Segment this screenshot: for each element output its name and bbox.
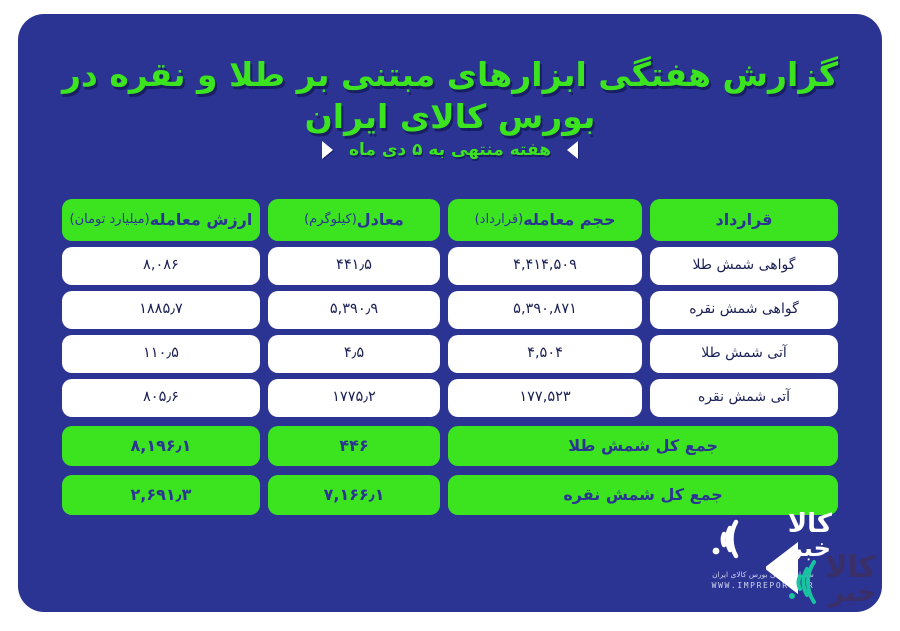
table-row: آتی شمش نقره ۱۷۷,۵۲۳ ۱۷۷۵٫۲ ۸۰۵٫۶	[62, 379, 838, 417]
cell-equivalent: ۵,۳۹۰٫۹	[268, 291, 440, 329]
header-value: ارزش معامله (میلیارد تومان)	[62, 199, 260, 241]
subtitle-block: هفته منتهی به ۵ دی ماه	[18, 140, 882, 160]
header-contract: قرارداد	[650, 199, 838, 241]
summary-equivalent-gold: ۴۴۶	[268, 426, 440, 466]
chevron-left-icon	[322, 141, 333, 159]
logo-url: WWW.IMPREPORT.IR	[688, 581, 838, 590]
brand-logo: کالا خبر سامانه رسمی بورس کالای ایران WW…	[688, 512, 838, 590]
header-equivalent-label: معادل	[357, 211, 404, 229]
signal-waves-icon	[696, 518, 740, 560]
logo-tagline: سامانه رسمی بورس کالای ایران	[688, 570, 838, 579]
summary-label-silver: جمع کل شمش نقره	[448, 475, 838, 515]
logo-mark: کالا خبر	[688, 512, 838, 564]
summary-label-gold: جمع کل شمش طلا	[448, 426, 838, 466]
cell-value: ۱۸۸۵٫۷	[62, 291, 260, 329]
table-header-row: قرارداد حجم معامله (قرارداد) معادل (کیلو…	[62, 199, 838, 241]
cell-volume: ۴,۵۰۴	[448, 335, 642, 373]
table-row: گواهی شمش طلا ۴,۴۱۴,۵۰۹ ۴۴۱٫۵ ۸,۰۸۶	[62, 247, 838, 285]
cell-equivalent: ۴۴۱٫۵	[268, 247, 440, 285]
infographic-root: گزارش هفتگی ابزارهای مبتنی بر طلا و نقره…	[0, 0, 900, 631]
cell-volume: ۴,۴۱۴,۵۰۹	[448, 247, 642, 285]
header-volume-unit: (قرارداد)	[475, 213, 524, 227]
header-value-label: ارزش معامله	[150, 211, 253, 229]
table-summary-row-silver: جمع کل شمش نقره ۷,۱۶۶٫۱ ۲,۶۹۱٫۳	[62, 475, 838, 515]
summary-value-gold: ۸,۱۹۶٫۱	[62, 426, 260, 466]
cell-value: ۱۱۰٫۵	[62, 335, 260, 373]
page-title: گزارش هفتگی ابزارهای مبتنی بر طلا و نقره…	[44, 54, 856, 138]
cell-contract: آتی شمش طلا	[650, 335, 838, 373]
cell-value: ۸۰۵٫۶	[62, 379, 260, 417]
summary-value-silver: ۲,۶۹۱٫۳	[62, 475, 260, 515]
cell-equivalent: ۴٫۵	[268, 335, 440, 373]
report-period: هفته منتهی به ۵ دی ماه	[349, 140, 551, 160]
header-volume: حجم معامله (قرارداد)	[448, 199, 642, 241]
cell-value: ۸,۰۸۶	[62, 247, 260, 285]
table-row: گواهی شمش نقره ۵,۳۹۰,۸۷۱ ۵,۳۹۰٫۹ ۱۸۸۵٫۷	[62, 291, 838, 329]
table-summary-row-gold: جمع کل شمش طلا ۴۴۶ ۸,۱۹۶٫۱	[62, 426, 838, 466]
header-contract-label: قرارداد	[715, 211, 772, 229]
cell-contract: گواهی شمش نقره	[650, 291, 838, 329]
logo-wordmark: کالا خبر	[788, 512, 832, 559]
report-card: گزارش هفتگی ابزارهای مبتنی بر طلا و نقره…	[18, 14, 882, 612]
cell-equivalent: ۱۷۷۵٫۲	[268, 379, 440, 417]
table-row: آتی شمش طلا ۴,۵۰۴ ۴٫۵ ۱۱۰٫۵	[62, 335, 838, 373]
chevron-right-icon	[567, 141, 578, 159]
cell-contract: گواهی شمش طلا	[650, 247, 838, 285]
cell-contract: آتی شمش نقره	[650, 379, 838, 417]
header-value-unit: (میلیارد تومان)	[70, 213, 150, 227]
summary-equivalent-silver: ۷,۱۶۶٫۱	[268, 475, 440, 515]
title-block: گزارش هفتگی ابزارهای مبتنی بر طلا و نقره…	[18, 54, 882, 138]
report-table: قرارداد حجم معامله (قرارداد) معادل (کیلو…	[62, 199, 838, 521]
header-equivalent-unit: (کیلوگرم)	[304, 213, 357, 227]
header-equivalent: معادل (کیلوگرم)	[268, 199, 440, 241]
cell-volume: ۱۷۷,۵۲۳	[448, 379, 642, 417]
header-volume-label: حجم معامله	[523, 211, 615, 229]
logo-brand-line2: خبر	[788, 537, 832, 560]
cell-volume: ۵,۳۹۰,۸۷۱	[448, 291, 642, 329]
